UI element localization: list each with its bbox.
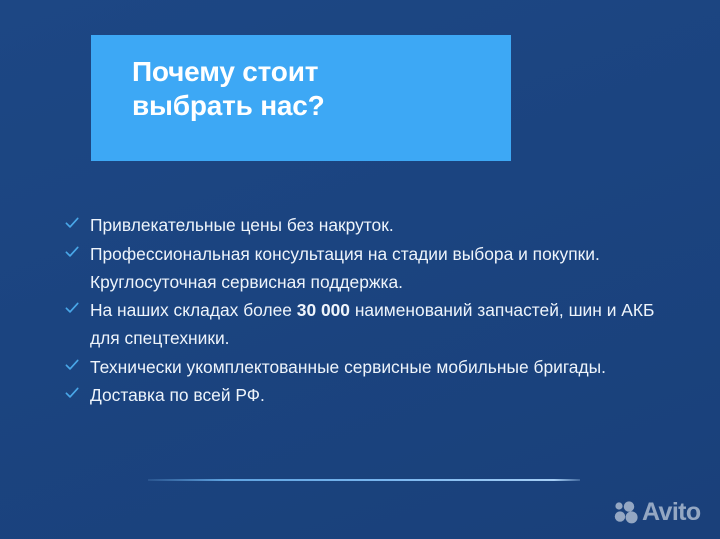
avito-watermark: Avito <box>613 497 701 527</box>
avito-wordmark: Avito <box>642 500 701 525</box>
check-icon <box>65 386 79 400</box>
check-icon <box>65 301 79 315</box>
benefit-item: Доставка по всей РФ. <box>62 381 672 409</box>
check-icon <box>65 245 79 259</box>
benefit-text-plain: На наших складах более <box>90 300 297 320</box>
benefit-item: На наших складах более 30 000 наименован… <box>62 296 672 352</box>
benefit-item: Профессиональная консультация на стадии … <box>62 240 672 296</box>
divider <box>148 479 580 481</box>
benefit-text: Привлекательные цены без накруток. <box>90 211 672 239</box>
benefit-item: Технически укомплектованные сервисные мо… <box>62 353 672 381</box>
slide-canvas: Почему стоит выбрать нас? Привлекательны… <box>0 0 720 539</box>
benefit-text: На наших складах более 30 000 наименован… <box>90 296 672 352</box>
benefit-item: Привлекательные цены без накруток. <box>62 211 672 239</box>
title-banner: Почему стоит выбрать нас? <box>91 35 511 161</box>
benefits-list: Привлекательные цены без накруток.Профес… <box>62 211 672 410</box>
benefit-text-plain: Профессиональная консультация на стадии … <box>90 244 600 292</box>
benefit-text-plain: Доставка по всей РФ. <box>90 385 265 405</box>
avito-logo-icon <box>613 500 639 524</box>
benefit-text: Профессиональная консультация на стадии … <box>90 240 672 296</box>
benefit-text: Технически укомплектованные сервисные мо… <box>90 353 672 381</box>
benefit-text-plain: Привлекательные цены без накруток. <box>90 215 394 235</box>
page-title: Почему стоит выбрать нас? <box>132 55 499 123</box>
check-icon <box>65 358 79 372</box>
check-icon <box>65 216 79 230</box>
benefit-text-highlight: 30 000 <box>297 300 350 320</box>
benefit-text: Доставка по всей РФ. <box>90 381 672 409</box>
benefit-text-plain: Технически укомплектованные сервисные мо… <box>90 357 606 377</box>
